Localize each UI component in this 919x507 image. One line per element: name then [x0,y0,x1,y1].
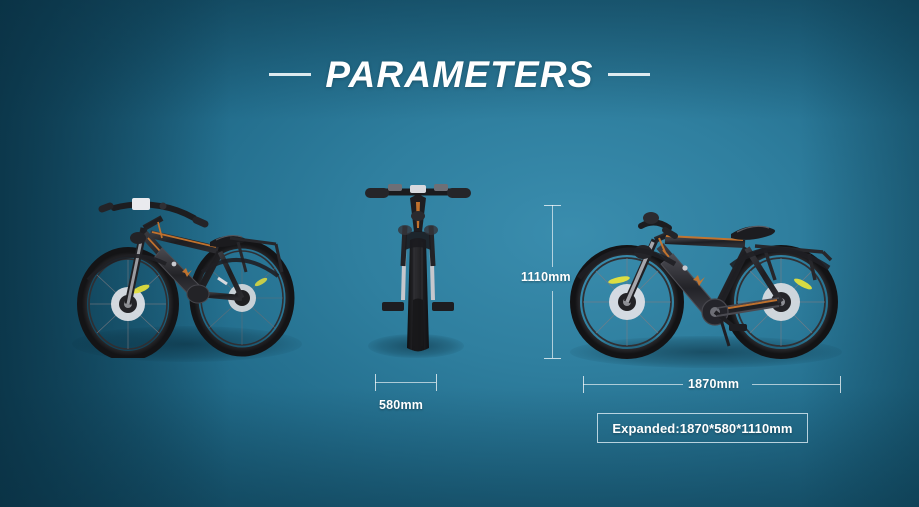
title-right-dash-icon [608,73,650,76]
parameters-page: PARAMETERS [0,0,919,507]
dimension-width-label: 580mm [379,398,423,412]
length-line-right [752,384,840,385]
vignette-bottom [0,387,919,507]
pedal-icon [729,324,747,331]
display-console-icon [132,198,150,210]
page-title: PARAMETERS [325,56,593,93]
rack-left-hint [398,225,412,235]
width-line [375,382,436,383]
handlebar [641,212,675,236]
length-right-tick [840,376,841,393]
ebike-side-view [565,196,845,360]
front-light-icon [411,211,425,221]
height-bottom-tick [544,358,561,359]
length-line-left [583,384,683,385]
title-left-dash-icon [269,73,311,76]
rear-spoke-reflector-icon [254,276,269,287]
ebike-side-illustration [565,196,845,360]
ebike-three-quarter-illustration [70,176,305,358]
expanded-dimensions-text: Expanded:1870*580*1110mm [612,421,792,436]
display-console-icon [410,185,426,193]
ebike-front-view [360,180,476,358]
height-line-upper [552,205,553,267]
rack-right-hint [424,225,438,235]
height-line-lower [552,291,553,358]
ebike-three-quarter-view [70,176,305,358]
handlebar [370,184,466,193]
saddle [731,226,775,240]
width-right-tick [436,374,437,391]
page-title-block: PARAMETERS [0,56,919,93]
display-console-icon [643,212,659,224]
rear-spoke-reflector-icon [793,277,813,292]
front-light-icon [130,232,146,244]
dimension-length-label: 1870mm [688,377,739,391]
rear-wheel [412,299,424,352]
mid-drive-motor [187,285,209,303]
ebike-front-illustration [360,180,476,358]
expanded-dimensions-box: Expanded:1870*580*1110mm [597,413,808,443]
left-brake-lever-icon [388,184,402,191]
dimension-height-label: 1110mm [521,270,571,284]
right-brake-lever-icon [434,184,448,191]
